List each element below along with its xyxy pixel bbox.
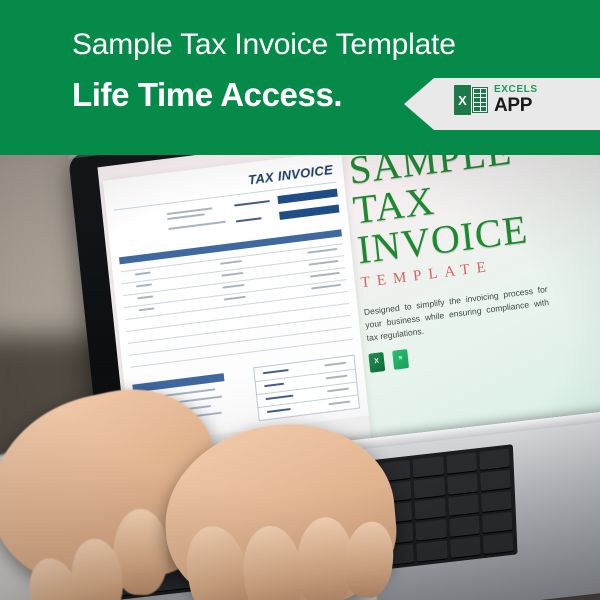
invoice-cell: [220, 260, 242, 265]
brand-logo-words: EXCELS APP: [494, 85, 538, 115]
keyboard-key: [448, 494, 479, 515]
slide-text-column: SAMPLE TAX INVOICE TEMPLATE Designed to …: [347, 155, 600, 450]
brand-logo: X EXCELS APP: [454, 85, 538, 115]
keyboard-key: [416, 519, 447, 540]
invoice-cell: [309, 260, 339, 266]
invoice-field-value-box: [277, 189, 337, 204]
invoice-total-value: [324, 362, 346, 367]
invoice-meta-line: [167, 207, 213, 215]
brand-word-app: APP: [494, 96, 538, 115]
invoice-cell: [223, 284, 245, 289]
invoice-cell: [137, 295, 153, 299]
spreadsheet-grid-icon: [472, 87, 488, 113]
excel-letter: X: [458, 94, 467, 107]
excel-file-glyph: X: [369, 357, 385, 366]
keyboard-key: [415, 498, 446, 519]
invoice-cell: [135, 272, 151, 276]
keyboard-key: [413, 456, 444, 477]
invoice-meta-line: [168, 221, 226, 230]
brand-word-excels: EXCELS: [494, 85, 538, 95]
excel-app-icon: X: [454, 85, 488, 115]
invoice-cell: [310, 272, 340, 278]
keyboard-key: [481, 491, 512, 512]
excel-file-icon: X: [368, 352, 385, 373]
invoice-totals-table: [253, 355, 360, 421]
brand-logo-tag: X EXCELS APP: [404, 78, 600, 130]
invoice-total-label: [267, 408, 291, 413]
banner-title: Sample Tax Invoice Template: [72, 30, 456, 60]
keyboard-key: [450, 537, 481, 558]
invoice-total-label: [263, 369, 289, 374]
banner-subtitle: Life Time Access.: [72, 78, 342, 111]
invoice-total-value: [327, 388, 349, 393]
invoice-cell: [139, 307, 155, 311]
keyboard-key: [447, 473, 478, 494]
keyboard-key: [480, 470, 511, 491]
invoice-table-row-rule: [128, 315, 350, 344]
keyboard-key: [479, 449, 510, 470]
invoice-cell: [136, 284, 152, 288]
invoice-cell: [221, 272, 243, 277]
invoice-total-label: [264, 383, 284, 387]
invoice-table-row-rule: [127, 303, 349, 332]
google-sheets-file-glyph: ≡: [393, 354, 409, 363]
screenshot-root: Sample Tax Invoice Template Life Time Ac…: [0, 0, 600, 600]
invoice-field-label: [236, 217, 262, 222]
hero-photo: TAX INVOICE: [0, 155, 600, 600]
finger: [240, 523, 306, 600]
invoice-field-label: [234, 200, 270, 207]
keyboard-key: [446, 452, 477, 473]
invoice-cell: [311, 284, 341, 290]
invoice-total-label: [265, 395, 293, 400]
invoice-table-row-rule: [129, 327, 351, 356]
keyboard-key: [482, 512, 513, 533]
invoice-field-value-box: [279, 204, 339, 219]
excel-door-icon: X: [454, 85, 471, 115]
invoice-total-value: [328, 401, 350, 406]
invoice-table-row-rule: [123, 267, 345, 296]
invoice-table-row-rule: [125, 291, 347, 320]
keyboard-key: [449, 515, 480, 536]
invoice-total-value: [326, 375, 348, 380]
google-sheets-file-icon: ≡: [392, 349, 409, 370]
keyboard-key: [483, 533, 514, 554]
invoice-cell: [307, 248, 337, 254]
promo-banner: Sample Tax Invoice Template Life Time Ac…: [0, 0, 600, 155]
invoice-cell: [224, 296, 246, 301]
keyboard-key: [414, 477, 445, 498]
keyboard-key: [417, 540, 448, 561]
invoice-table-row-rule: [124, 279, 346, 308]
